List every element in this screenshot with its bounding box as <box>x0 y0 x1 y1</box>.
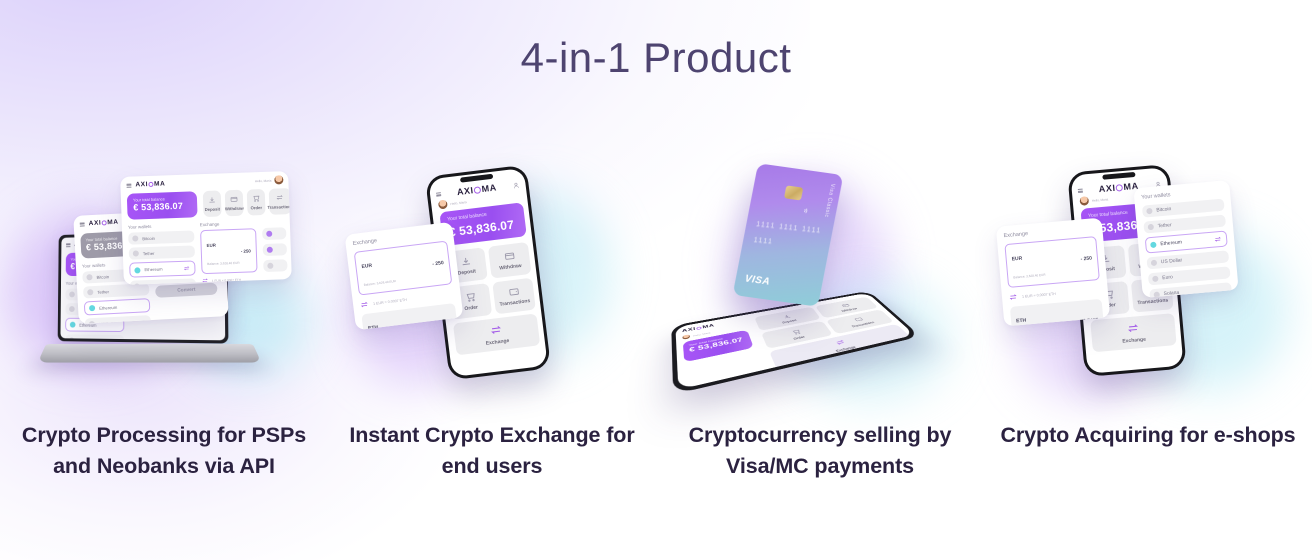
exchange-icon[interactable] <box>183 265 190 272</box>
wallet-row[interactable]: Bitcoin <box>128 230 194 244</box>
phone-notch <box>460 174 493 183</box>
wallet-name: Bitcoin <box>142 235 155 240</box>
exchange-title: Exchange <box>200 220 256 227</box>
from-amount: - 250 <box>241 248 251 253</box>
transaction-row[interactable] <box>262 227 286 240</box>
feature-card-crypto-acquiring: AXIMA Hello, Maria Your total balance € … <box>984 160 1312 481</box>
phone-notch <box>1102 172 1135 180</box>
tile-label: Withdraw <box>499 263 522 272</box>
from-balance: Balance: 3,628.40 EUR <box>1013 273 1046 280</box>
from-amount: - 250 <box>1080 256 1092 263</box>
tile-label: Deposit <box>781 319 796 324</box>
artwork-laptop-with-floating-dashboards: AXIMA Your total balance € 53,836.07 You… <box>14 160 314 410</box>
avatar[interactable] <box>438 199 448 209</box>
coin-icon <box>69 337 75 340</box>
wallets-card: Your wallets Bitcoin Tether Ethereum US … <box>1133 180 1238 298</box>
tile-label: Order <box>251 205 263 210</box>
tile-label: Deposit <box>457 268 476 276</box>
exchange-icon[interactable] <box>1214 235 1223 244</box>
tile-label: Exchange <box>1122 337 1146 345</box>
wallet-name: Ethereum <box>1160 239 1182 247</box>
coin-icon <box>1148 224 1155 231</box>
menu-icon[interactable] <box>1078 189 1083 193</box>
greeting: Hello, Maria <box>255 178 272 183</box>
coin-icon <box>69 306 75 312</box>
swap-icon[interactable] <box>1009 292 1019 302</box>
wallet-name: Tether <box>97 289 109 295</box>
artwork-visa-card-over-phone: AXIMA Hello, Maria Your total balance € … <box>670 160 970 410</box>
feature-grid: AXIMA Your total balance € 53,836.07 You… <box>0 160 1312 481</box>
exchange-rate: 1 EUR = 0.0007 ETH <box>1022 291 1056 298</box>
wallet-name: Ethereum <box>144 267 162 273</box>
coin-icon <box>89 305 95 311</box>
tile-label: Transactions <box>1137 298 1168 307</box>
wallet-row-selected[interactable]: Ethereum <box>129 260 195 277</box>
avatar[interactable] <box>274 175 283 184</box>
coin-icon <box>69 291 75 297</box>
tile-label: Transactions <box>850 321 875 328</box>
card-chip-icon <box>784 185 803 200</box>
tile-label: Transactions <box>267 204 292 210</box>
wallet-row[interactable]: US Dollar <box>65 334 124 340</box>
wallets-title: Your wallets <box>128 222 194 229</box>
wallet-row-selected[interactable]: Ethereum <box>84 298 151 315</box>
brand-logo: AXIMA <box>89 219 119 228</box>
from-amount: - 250 <box>432 260 444 267</box>
wallet-name: Bitcoin <box>96 274 109 280</box>
coin-icon <box>132 235 138 241</box>
wallet-row[interactable]: Tether <box>83 283 150 298</box>
coin-icon <box>1152 276 1159 283</box>
feature-card-visa-mc-selling: AXIMA Hello, Maria Your total balance € … <box>656 160 984 481</box>
contactless-icon <box>801 206 812 216</box>
feature-caption: Crypto Acquiring for e-shops <box>998 420 1298 451</box>
exchange-from-field[interactable]: EURBalance: 3,628.40 EUR - 250 <box>354 240 453 295</box>
balance-amount: € 53,836.07 <box>133 201 191 213</box>
tile-exchange[interactable]: Exchange <box>1090 313 1176 352</box>
coin-icon <box>267 263 273 269</box>
from-currency: EUR <box>361 263 372 270</box>
tile-label: Withdraw <box>225 206 244 212</box>
menu-icon[interactable] <box>80 222 85 226</box>
card-network-logo: VISA <box>744 273 771 287</box>
feature-caption: Cryptocurrency selling by Visa/MC paymen… <box>670 420 970 481</box>
coin-icon <box>267 247 273 253</box>
menu-icon[interactable] <box>436 192 441 197</box>
brand-logo: AXIMA <box>135 180 165 188</box>
feature-caption: Instant Crypto Exchange for end users <box>342 420 642 481</box>
exchange-from-field[interactable]: EURBalance: 3,628.40 EUR - 250 <box>1004 236 1099 288</box>
feature-card-instant-exchange: AXIMA Hello, Maria Your total balance € … <box>328 160 656 481</box>
wallet-name: US Dollar <box>1161 257 1183 265</box>
feature-card-crypto-processing: AXIMA Your total balance € 53,836.07 You… <box>0 160 328 481</box>
coin-icon <box>87 289 93 295</box>
wallet-name: Bitcoin <box>1156 206 1171 213</box>
feature-caption: Crypto Processing for PSPs and Neobanks … <box>14 420 314 481</box>
exchange-rate: 1 EUR = 0.0007 ETH <box>373 297 407 305</box>
to-currency: ETH <box>1016 318 1026 325</box>
logo-o-icon <box>1116 184 1124 192</box>
coin-icon <box>1151 260 1158 267</box>
brand-logo: AXIMA <box>456 182 497 197</box>
logo-o-icon <box>696 326 702 330</box>
convert-button[interactable]: Convert <box>155 283 218 298</box>
menu-icon[interactable] <box>66 243 71 247</box>
wallet-name: Ethereum <box>99 304 117 310</box>
dashboard-sheet-top: AXIMA Hello, Maria Your total balance € … <box>120 171 292 285</box>
tile-label: Order <box>464 305 478 313</box>
transaction-row[interactable] <box>263 243 287 256</box>
exchange-from-field[interactable]: EURBalance: 3,628.40 EUR - 250 <box>200 228 258 274</box>
coin-icon <box>86 274 92 280</box>
logo-o-icon <box>102 220 107 225</box>
avatar[interactable] <box>682 334 690 340</box>
coin-icon <box>133 250 139 256</box>
greeting: Hello, Maria <box>1092 197 1109 202</box>
tile-transactions[interactable]: Transactions <box>269 188 292 215</box>
tile-label: Order <box>793 335 806 340</box>
balance-card: Your total balance € 53,836.07 <box>127 191 198 219</box>
avatar[interactable] <box>1079 196 1089 206</box>
coin-icon <box>1146 208 1153 215</box>
tile-deposit[interactable]: Deposit <box>203 190 222 217</box>
transaction-row[interactable] <box>263 259 287 272</box>
tile-label: Transactions <box>499 298 530 308</box>
from-currency: EUR <box>207 243 216 248</box>
coin-icon <box>134 267 140 273</box>
wallet-row-selected[interactable]: Ethereum <box>1145 230 1228 253</box>
exchange-card: Exchange EURBalance: 3,628.40 EUR - 250 … <box>996 218 1110 327</box>
card-number: 1111 1111 1111 1111 <box>752 217 823 256</box>
tile-label: Exchange <box>485 338 509 347</box>
profile-icon[interactable] <box>512 181 520 189</box>
wallet-name: Euro <box>1162 274 1173 281</box>
logo-o-icon <box>148 182 153 187</box>
from-balance: Balance: 3,628.40 EUR <box>207 261 239 266</box>
brand-logo: AXIMA <box>1098 181 1139 194</box>
coin-icon <box>1150 242 1157 249</box>
menu-icon[interactable] <box>126 183 131 187</box>
wallet-name: US Dollar <box>78 338 95 340</box>
tile-exchange[interactable]: Exchange <box>453 313 540 355</box>
exchange-card: Exchange EURBalance: 3,628.40 EUR - 250 … <box>345 222 464 330</box>
tile-withdraw[interactable]: Withdraw <box>225 190 244 217</box>
card-product-label: Visa Classic <box>823 183 836 218</box>
page-title: 4-in-1 Product <box>0 34 1312 82</box>
greeting: Hello, Maria <box>450 200 467 206</box>
tile-transactions[interactable]: Transactions <box>492 278 536 315</box>
wallet-name: Tether <box>143 250 155 255</box>
from-balance: Balance: 3,628.40 EUR <box>364 279 397 287</box>
greeting: Hello, Maria <box>693 331 711 337</box>
tile-label: Deposit <box>205 207 221 213</box>
swap-icon[interactable] <box>360 299 370 309</box>
tile-withdraw[interactable]: Withdraw <box>488 242 532 279</box>
coin-icon <box>70 322 76 328</box>
coin-icon <box>266 231 272 237</box>
from-currency: EUR <box>1011 256 1022 263</box>
tile-order[interactable]: Order <box>247 189 266 216</box>
wallet-row[interactable]: Tether <box>129 245 195 259</box>
laptop-base <box>38 344 262 362</box>
artwork-phone-with-exchange-and-wallets: AXIMA Hello, Maria Your total balance € … <box>998 160 1298 410</box>
wallet-name: Tether <box>1158 222 1172 229</box>
artwork-phone-with-exchange-card: AXIMA Hello, Maria Your total balance € … <box>342 160 642 410</box>
